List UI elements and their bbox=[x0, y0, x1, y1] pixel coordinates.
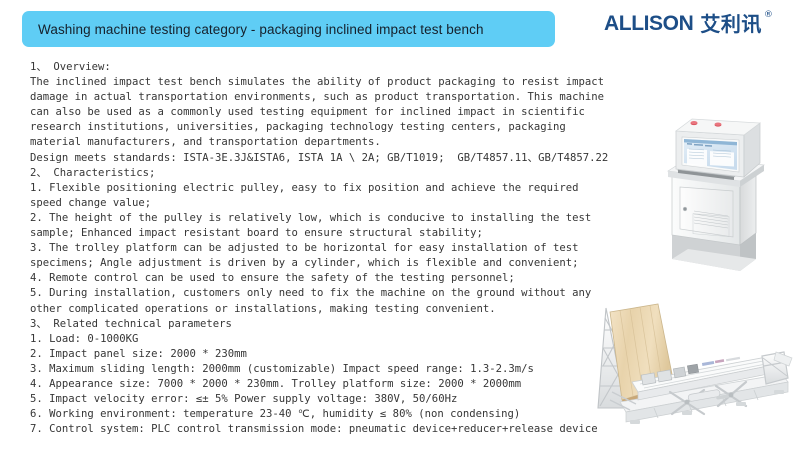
text-line: 6. Working environment: temperature 23-4… bbox=[30, 407, 608, 422]
brand-logo: ALLISON 艾利讯 ® bbox=[604, 12, 773, 36]
text-line: 5. During installation, customers only n… bbox=[30, 286, 608, 301]
page-header: Washing machine testing category - packa… bbox=[0, 0, 800, 56]
logo-chinese-name: 艾利讯 bbox=[700, 12, 762, 36]
registered-trademark-icon: ® bbox=[764, 11, 773, 20]
text-line: 3、 Related technical parameters bbox=[30, 317, 608, 332]
text-line: 1. Load: 0-1000KG bbox=[30, 332, 608, 347]
page-title-banner: Washing machine testing category - packa… bbox=[22, 11, 555, 47]
text-line: 4. Remote control can be used to ensure … bbox=[30, 271, 608, 286]
text-line: 2. The height of the pulley is relativel… bbox=[30, 211, 608, 226]
text-line: Design meets standards: ISTA-3E.3J&ISTA6… bbox=[30, 151, 608, 166]
text-line: 3. The trolley platform can be adjusted … bbox=[30, 241, 608, 256]
text-line: material manufacturers, and transportati… bbox=[30, 135, 608, 150]
text-line: damage in actual transportation environm… bbox=[30, 90, 608, 105]
text-line: 2. Impact panel size: 2000 * 230mm bbox=[30, 347, 608, 362]
text-line: other complicated operations or installa… bbox=[30, 302, 608, 317]
text-line: research institutions, universities, pac… bbox=[30, 120, 608, 135]
text-line: specimens; Angle adjustment is driven by… bbox=[30, 256, 608, 271]
product-description: 1、 Overview: The inclined impact test be… bbox=[30, 60, 608, 437]
text-line: 1、 Overview: bbox=[30, 60, 608, 75]
text-line: 2、 Characteristics; bbox=[30, 166, 608, 181]
logo-wordmark: ALLISON bbox=[604, 12, 693, 36]
text-line: speed change value; bbox=[30, 196, 608, 211]
text-line: The inclined impact test bench simulates… bbox=[30, 75, 608, 90]
impact-bench-image bbox=[596, 296, 796, 446]
text-line: 4. Appearance size: 7000 * 2000 * 230mm.… bbox=[30, 377, 608, 392]
control-console-image bbox=[636, 113, 788, 285]
text-line: 5. Impact velocity error: ≤± 5% Power su… bbox=[30, 392, 608, 407]
page-title: Washing machine testing category - packa… bbox=[38, 22, 484, 37]
text-line: can also be used as a commonly used test… bbox=[30, 105, 608, 120]
text-line: 1. Flexible positioning electric pulley,… bbox=[30, 181, 608, 196]
text-line: 7. Control system: PLC control transmiss… bbox=[30, 422, 608, 437]
text-line: 3. Maximum sliding length: 2000mm (custo… bbox=[30, 362, 608, 377]
text-line: sample; Enhanced impact resistant board … bbox=[30, 226, 608, 241]
